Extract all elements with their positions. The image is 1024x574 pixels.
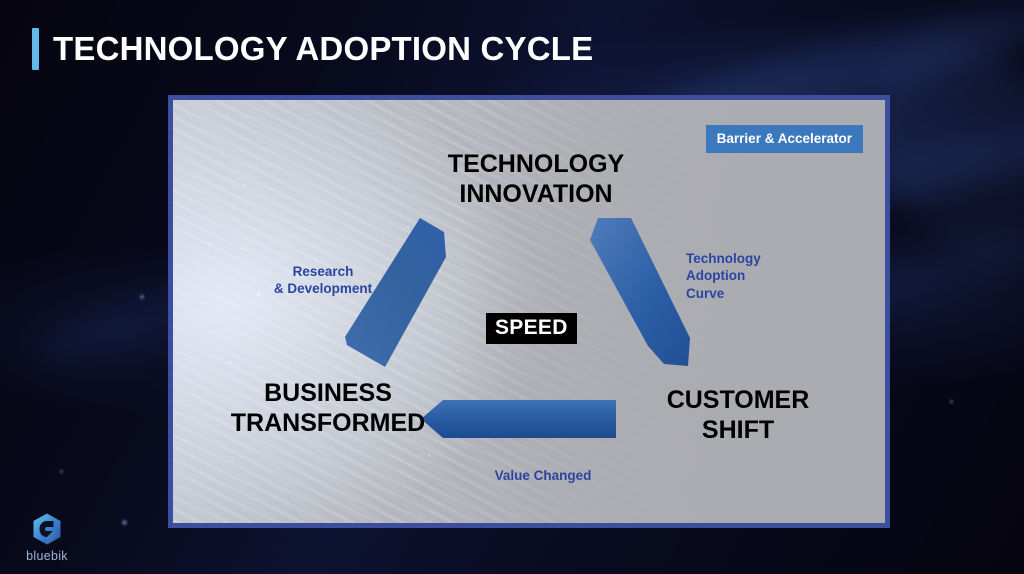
speed-tag: SPEED — [486, 313, 577, 344]
caption-research-development: Research & Development — [253, 263, 393, 298]
status-badge: Barrier & Accelerator — [706, 125, 863, 153]
page-title-text: TECHNOLOGY ADOPTION CYCLE — [53, 30, 593, 68]
page-title: TECHNOLOGY ADOPTION CYCLE — [32, 28, 593, 70]
diagram-panel: Barrier & Accelerator — [168, 95, 890, 528]
background-speck — [950, 400, 953, 403]
brand-logo: bluebik — [14, 512, 80, 563]
background-speck — [122, 520, 127, 525]
curve-arrow — [568, 218, 703, 378]
node-technology-innovation: TECHNOLOGY INNOVATION — [441, 150, 631, 209]
bluebik-cube-icon — [30, 512, 64, 546]
brand-logo-text: bluebik — [26, 549, 68, 563]
caption-value-changed: Value Changed — [463, 467, 623, 484]
slide-canvas: TECHNOLOGY ADOPTION CYCLE Barrier & Acce… — [0, 0, 1024, 574]
background-speck — [140, 295, 144, 299]
value-arrow — [421, 400, 616, 438]
rnd-arrow — [343, 218, 478, 378]
node-business-transformed: BUSINESS TRANSFORMED — [213, 379, 443, 438]
background-speck — [60, 470, 63, 473]
node-customer-shift: CUSTOMER SHIFT — [643, 386, 833, 445]
title-accent-bar — [32, 28, 39, 70]
caption-technology-adoption-curve: Technology Adoption Curve — [686, 250, 806, 302]
